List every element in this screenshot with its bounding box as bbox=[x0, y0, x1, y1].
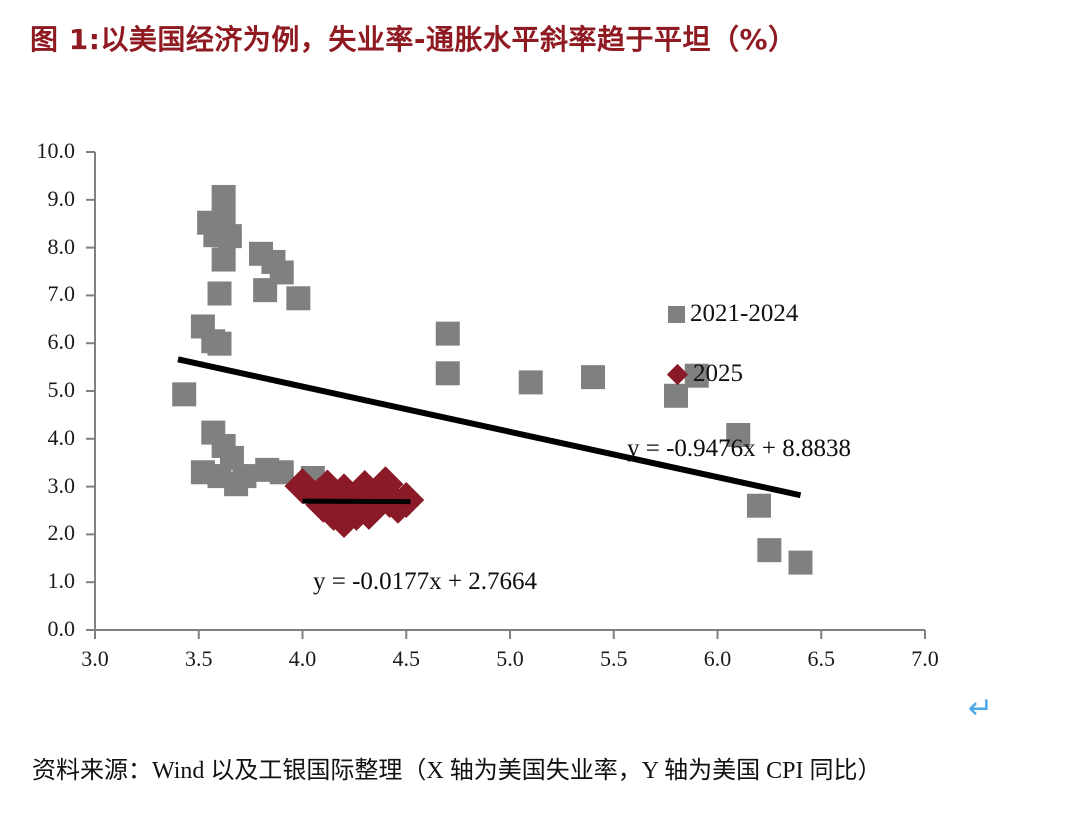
y-tick-label: 8.0 bbox=[13, 234, 75, 260]
data-point-square bbox=[757, 538, 781, 562]
x-tick-label: 3.0 bbox=[65, 646, 125, 672]
x-tick-label: 4.0 bbox=[273, 646, 333, 672]
data-point-square bbox=[436, 322, 460, 346]
data-point-square bbox=[212, 248, 236, 272]
x-tick-label: 4.5 bbox=[376, 646, 436, 672]
legend-label-2021-2024: 2021-2024 bbox=[690, 300, 798, 328]
y-tick-label: 2.0 bbox=[13, 520, 75, 546]
y-tick-label: 3.0 bbox=[13, 473, 75, 499]
data-point-square bbox=[232, 464, 256, 488]
x-tick-label: 6.5 bbox=[791, 646, 851, 672]
data-point-square bbox=[208, 332, 232, 356]
data-point-square bbox=[218, 224, 242, 248]
x-tick-label: 5.5 bbox=[584, 646, 644, 672]
y-tick-label: 7.0 bbox=[13, 281, 75, 307]
data-point-square bbox=[747, 494, 771, 518]
legend-square-icon bbox=[668, 306, 685, 323]
scatter-chart: 2021-2024 2025 y = -0.9476x + 8.8838 y =… bbox=[0, 120, 1000, 680]
data-point-square bbox=[789, 551, 813, 575]
equation-main: y = -0.9476x + 8.8838 bbox=[627, 435, 851, 463]
data-point-square bbox=[172, 382, 196, 406]
x-tick-label: 5.0 bbox=[480, 646, 540, 672]
x-tick-label: 3.5 bbox=[169, 646, 229, 672]
legend-item-2025[interactable]: 2025 bbox=[668, 360, 743, 388]
x-tick-label: 7.0 bbox=[895, 646, 955, 672]
x-tick-label: 6.0 bbox=[688, 646, 748, 672]
data-point-square bbox=[286, 286, 310, 310]
data-point-square bbox=[436, 361, 460, 385]
y-tick-label: 4.0 bbox=[13, 425, 75, 451]
data-point-square bbox=[581, 365, 605, 389]
y-tick-label: 1.0 bbox=[13, 568, 75, 594]
y-tick-label: 6.0 bbox=[13, 329, 75, 355]
legend-diamond-icon bbox=[667, 363, 688, 384]
equation-2025: y = -0.0177x + 2.7664 bbox=[313, 568, 537, 596]
data-point-square bbox=[212, 185, 236, 209]
figure-page: 图 1:以美国经济为例，失业率-通胀水平斜率趋于平坦（%） 2021-2024 … bbox=[0, 0, 1080, 813]
plot-area bbox=[0, 120, 1000, 680]
data-point-square bbox=[208, 281, 232, 305]
y-tick-label: 10.0 bbox=[13, 138, 75, 164]
figure-title: 图 1:以美国经济为例，失业率-通胀水平斜率趋于平坦（%） bbox=[30, 18, 797, 58]
legend-label-2025: 2025 bbox=[693, 360, 743, 388]
y-tick-label: 9.0 bbox=[13, 186, 75, 212]
data-point-square bbox=[519, 370, 543, 394]
source-note: 资料来源：Wind 以及工银国际整理（X 轴为美国失业率，Y 轴为美国 CPI … bbox=[32, 750, 881, 785]
y-tick-label: 0.0 bbox=[13, 616, 75, 642]
legend-item-2021-2024[interactable]: 2021-2024 bbox=[668, 300, 798, 328]
data-point-square bbox=[270, 260, 294, 284]
paragraph-return-icon: ↵ bbox=[968, 694, 993, 724]
y-tick-label: 5.0 bbox=[13, 377, 75, 403]
